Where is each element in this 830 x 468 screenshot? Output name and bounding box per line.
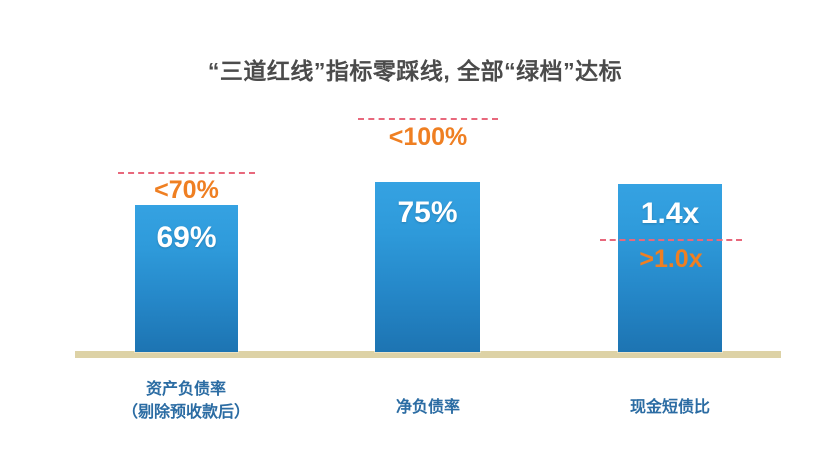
category-label-3-line1: 现金短债比 <box>630 399 710 416</box>
category-label-3: 现金短债比 <box>570 396 770 419</box>
chart-plot-area: <70% 69% 资产负债率 （剔除预收款后） <100% 75% 净负债率 1… <box>0 0 830 468</box>
threshold-label-3: >1.0x <box>600 247 742 272</box>
threshold-line-3 <box>600 239 742 241</box>
bar-value-3: 1.4x <box>618 199 722 229</box>
bar-group-cash-to-short-debt-ratio: 1.4x >1.0x 现金短债比 <box>0 0 830 468</box>
